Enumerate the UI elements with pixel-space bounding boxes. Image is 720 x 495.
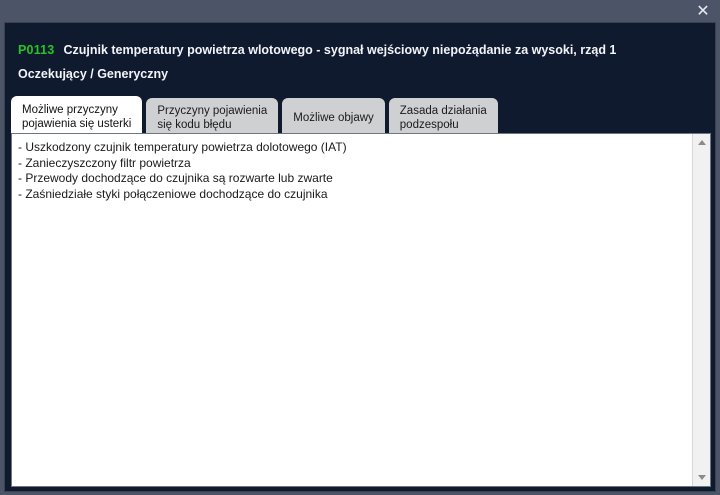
list-item: - Uszkodzony czujnik temperatury powietr… (18, 140, 692, 156)
tab-strip: Możliwe przyczyny pojawienia się usterki… (11, 96, 502, 134)
list-item: - Zanieczyszczony filtr powietrza (18, 156, 692, 172)
content-area: - Uszkodzony czujnik temperatury powietr… (11, 133, 711, 487)
list-item: - Przewody dochodzące do czujnika są roz… (18, 171, 692, 187)
tab-code-causes[interactable]: Przyczyny pojawienia się kodu błędu (146, 98, 278, 134)
scroll-up-icon[interactable] (693, 134, 710, 151)
scroll-down-icon[interactable] (693, 469, 710, 486)
dtc-header: P0113Czujnik temperatury powietrza wloto… (5, 23, 715, 81)
close-icon[interactable]: ✕ (692, 1, 714, 21)
dtc-status: Oczekujący / Generyczny (18, 67, 715, 81)
list-item: - Zaśniedziałe styki połączeniowe dochod… (18, 187, 692, 203)
title-bar: ✕ (0, 0, 720, 22)
dtc-description: Czujnik temperatury powietrza wlotowego … (63, 43, 616, 57)
content-list: - Uszkodzony czujnik temperatury powietr… (12, 134, 692, 486)
tab-possible-symptoms[interactable]: Możliwe objawy (282, 98, 385, 134)
dtc-code: P0113 (18, 43, 54, 57)
dtc-detail-panel: P0113Czujnik temperatury powietrza wloto… (4, 22, 716, 492)
tab-component-operation[interactable]: Zasada działania podzespołu (389, 98, 498, 134)
dtc-code-line: P0113Czujnik temperatury powietrza wloto… (18, 43, 715, 57)
vertical-scrollbar[interactable] (692, 134, 710, 486)
tab-possible-causes[interactable]: Możliwe przyczyny pojawienia się usterki (11, 96, 142, 134)
